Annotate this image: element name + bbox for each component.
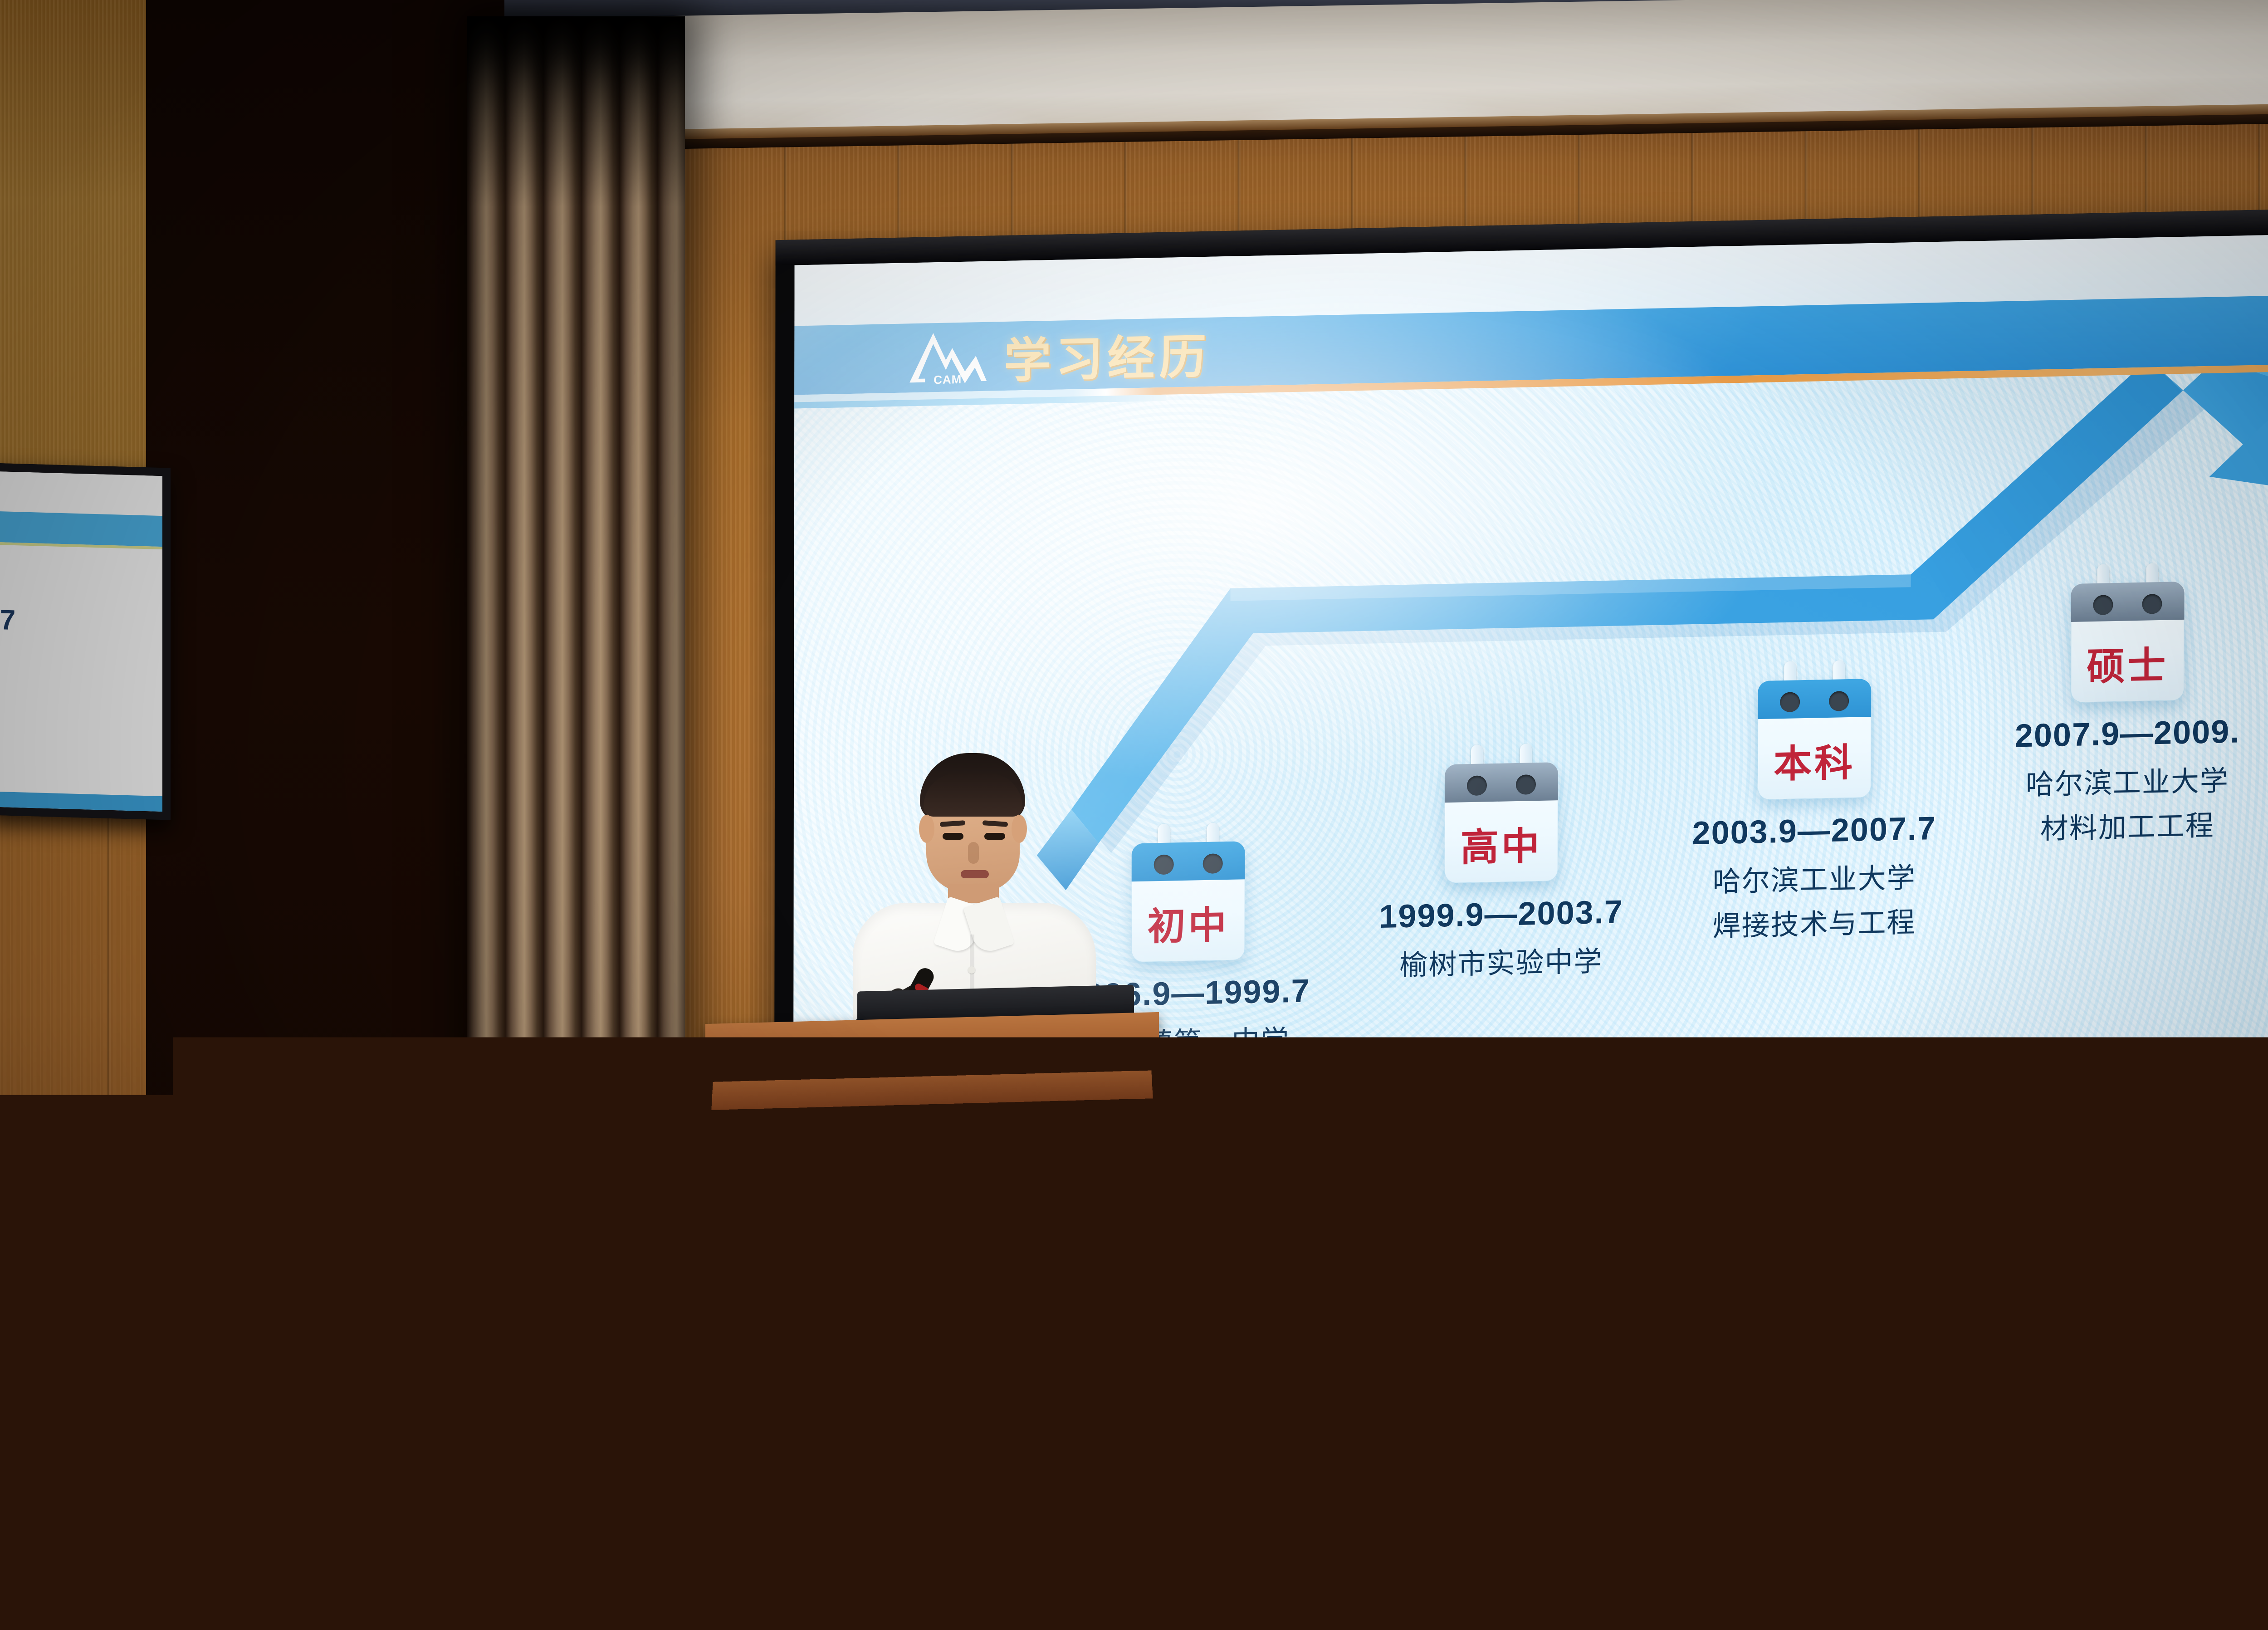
speaker-mouth <box>961 870 989 878</box>
calendar-header <box>2071 582 2184 622</box>
side-monitor-footer-band <box>0 792 162 812</box>
timeline-major: 材料加工工程 <box>1923 800 2268 849</box>
calendar-header <box>1132 841 1245 881</box>
timeline-major: 焊接技术与工程 <box>1610 897 2018 946</box>
side-monitor: 3.7 学 <box>0 463 171 820</box>
calendar-body: 高中 <box>1445 762 1558 883</box>
curtain-top-shadow <box>467 16 685 207</box>
stage-floor <box>408 1395 2268 1630</box>
calendar-header <box>1758 679 1871 719</box>
mountain-logo-icon: CAM <box>907 328 988 387</box>
side-monitor-screen: 3.7 学 <box>0 471 162 812</box>
timeline-stage-label: 硕士 <box>2071 623 2184 703</box>
speaker-eye-left <box>943 833 963 840</box>
speaker-ear-right <box>1012 815 1027 843</box>
slide-title: 学习经历 <box>1004 318 1211 390</box>
speaker-shirt-button <box>968 966 975 974</box>
timeline-school: 哈尔滨工业大学 <box>1923 755 2268 804</box>
side-monitor-title-band <box>0 511 162 547</box>
podium-body <box>771 1100 1089 1630</box>
timeline-school: 哈尔滨工业大学 <box>1610 852 2019 901</box>
calendar-body: 本科 <box>1758 679 1871 800</box>
speaker-nose <box>968 842 979 864</box>
svg-text:CAM: CAM <box>934 372 962 387</box>
speaker-hair-front <box>924 773 1022 817</box>
speaker-eye-right <box>984 833 1005 840</box>
timeline-entry: 硕士 2007.9—2009. 哈尔滨工业大学 材料加工工程 <box>1923 578 2268 849</box>
timeline-stage-label: 初中 <box>1131 883 1245 962</box>
timeline-stage-label: 本科 <box>1758 720 1871 800</box>
wall-panel-left <box>0 0 146 499</box>
calendar-header <box>1445 762 1558 803</box>
floor-left-shadow <box>0 1384 680 1630</box>
calendar-body: 硕士 <box>2071 582 2184 703</box>
timeline-date: 2007.9—2009. <box>1923 711 2268 756</box>
calendar-body: 初中 <box>1131 841 1245 962</box>
side-monitor-date-fragment: 3.7 <box>0 603 17 637</box>
auditorium-scene: 3.7 学 <box>0 0 2268 1630</box>
calendar-icon: 硕士 <box>1923 578 2268 705</box>
timeline-stage-label: 高中 <box>1445 804 1558 883</box>
speaker-ear-left <box>919 815 934 843</box>
